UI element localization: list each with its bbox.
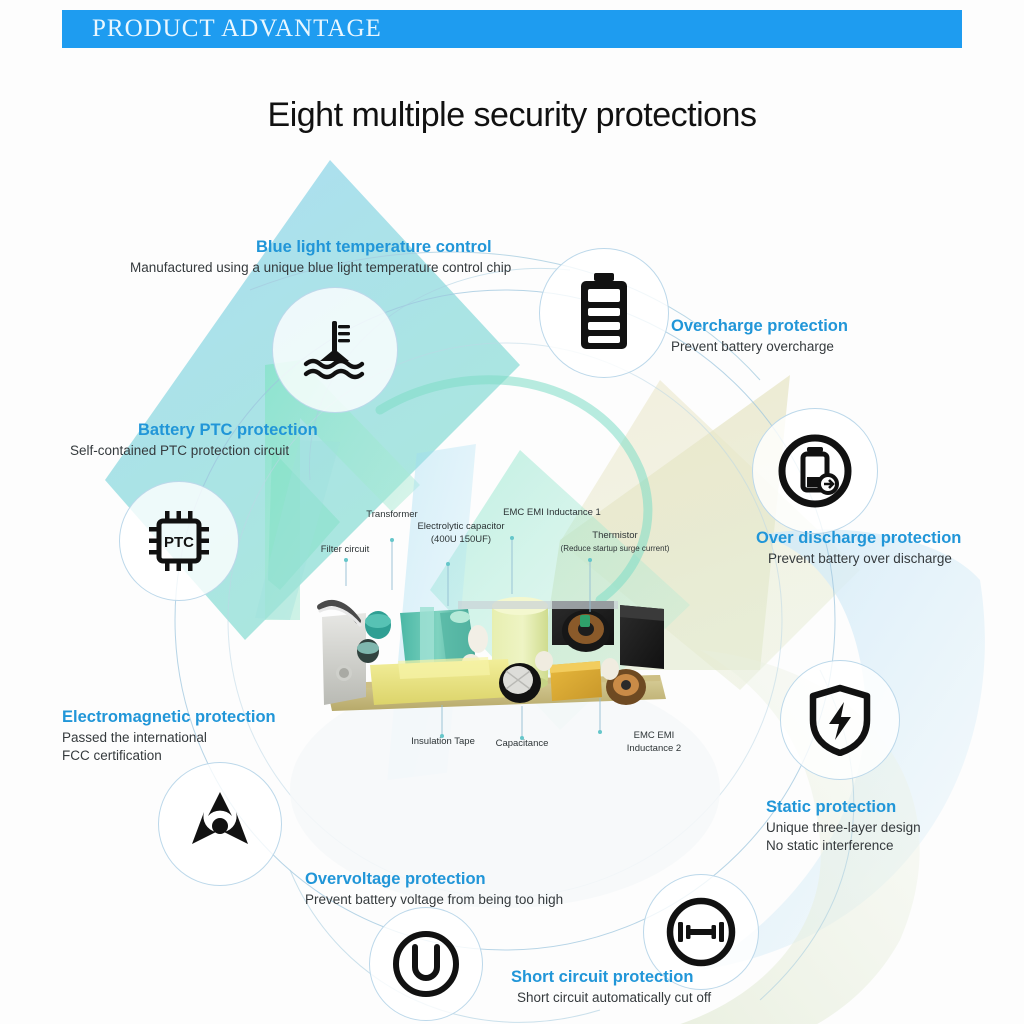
pcb-label-thermistor-note: (Reduce startup surge current) [520, 544, 710, 555]
feature-title: Overcharge protection [671, 317, 848, 336]
feature-title: Electromagnetic protection [62, 708, 276, 727]
feature-subtitle: Short circuit automatically cut off [517, 989, 711, 1007]
feature-title: Static protection [766, 798, 921, 817]
feature-overvoltage-protection: Overvoltage protection Prevent battery v… [305, 870, 563, 909]
icon-circle-blue-light-temperature-control[interactable] [272, 287, 398, 413]
feature-subtitle: Manufactured using a unique blue light t… [130, 259, 511, 277]
icon-circle-overcharge-protection[interactable] [539, 248, 669, 378]
feature-subtitle: Unique three-layer design No static inte… [766, 819, 921, 854]
shield-bolt-icon [807, 684, 873, 756]
pcb-label-electrolytic-capacitor: Electrolytic capacitor (400U 150UF) [406, 521, 516, 547]
pcb-label-emc-emi-inductance-1: EMC EMI Inductance 1 [452, 507, 652, 520]
pcb-label-capacitance: Capacitance [482, 738, 562, 751]
feature-subtitle: Prevent battery overcharge [671, 338, 848, 356]
feature-subtitle: Prevent battery voltage from being too h… [305, 891, 563, 909]
svg-text:PTC: PTC [164, 534, 194, 551]
fuse-circle-icon [665, 896, 737, 968]
feature-battery-ptc-protection: Battery PTC protection Self-contained PT… [70, 421, 318, 460]
icon-circle-overvoltage-protection[interactable] [369, 907, 483, 1021]
banner-title: PRODUCT ADVANTAGE [92, 15, 382, 43]
feature-title: Blue light temperature control [256, 238, 511, 257]
feature-overcharge-protection: Overcharge protection Prevent battery ov… [671, 317, 848, 356]
pcb-label-transformer: Transformer [352, 509, 432, 522]
feature-title: Overvoltage protection [305, 870, 563, 889]
feature-subtitle: Self-contained PTC protection circuit [70, 442, 318, 460]
feature-subtitle: Prevent battery over discharge [768, 550, 961, 568]
feature-title: Short circuit protection [511, 968, 711, 987]
icon-circle-static-protection[interactable] [780, 660, 900, 780]
infographic-root: PRODUCT ADVANTAGE Eight multiple securit… [0, 0, 1024, 1024]
pcb-label-insulation-tape: Insulation Tape [398, 736, 488, 749]
icon-circle-battery-ptc-protection[interactable]: PTC [119, 481, 239, 601]
feature-short-circuit-protection: Short circuit protection Short circuit a… [511, 968, 711, 1007]
feature-blue-light-temperature-control: Blue light temperature control Manufactu… [130, 238, 511, 277]
icon-circle-electromagnetic-protection[interactable] [158, 762, 282, 886]
battery-full-icon [575, 273, 633, 353]
coolant-temperature-icon [300, 319, 370, 381]
battery-no-discharge-icon [776, 432, 854, 510]
feature-static-protection: Static protection Unique three-layer des… [766, 798, 921, 854]
product-advantage-banner: PRODUCT ADVANTAGE [62, 10, 962, 48]
pcb-label-thermistor: Thermistor [540, 530, 690, 543]
pcb-label-emc-emi-inductance-2: EMC EMI Inductance 2 [614, 730, 694, 756]
voltage-u-icon [391, 929, 461, 999]
ptc-chip-icon: PTC [143, 505, 215, 577]
pcb-label-filter-circuit: Filter circuit [305, 544, 385, 557]
feature-electromagnetic-protection: Electromagnetic protection Passed the in… [62, 708, 276, 764]
page-title: Eight multiple security protections [0, 96, 1024, 135]
icon-circle-over-discharge-protection[interactable] [752, 408, 878, 534]
feature-over-discharge-protection: Over discharge protection Prevent batter… [756, 529, 961, 568]
feature-title: Battery PTC protection [138, 421, 318, 440]
radiation-icon [182, 786, 258, 862]
feature-subtitle: Passed the international FCC certificati… [62, 729, 276, 764]
feature-title: Over discharge protection [756, 529, 961, 548]
